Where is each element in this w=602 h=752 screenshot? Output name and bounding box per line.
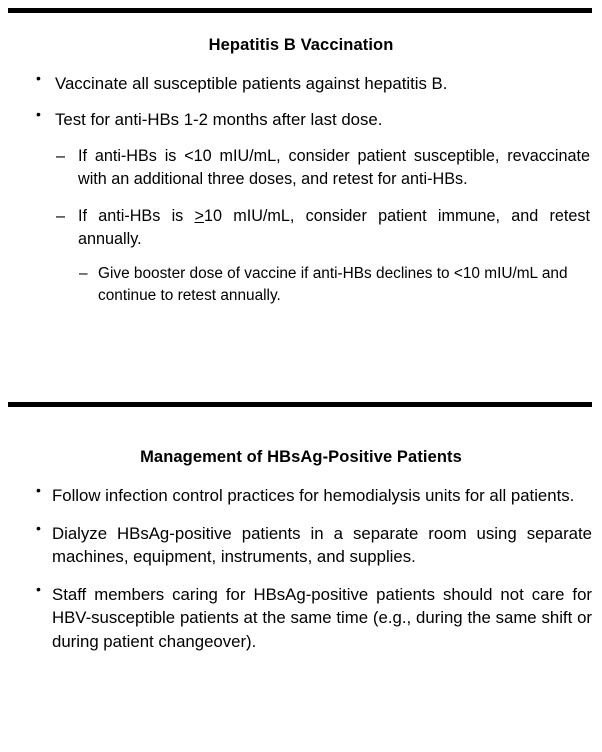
section-management-hbsag-positive: Management of HBsAg-Positive Patients Fo… xyxy=(0,448,602,668)
slide-page: Hepatitis B Vaccination Vaccinate all su… xyxy=(0,0,602,752)
divider-rule-top xyxy=(8,8,592,13)
section-two-heading: Management of HBsAg-Positive Patients xyxy=(0,448,602,468)
section-one-bullet-list: Vaccinate all susceptible patients again… xyxy=(0,72,602,131)
sub-sub-bullet-item: Give booster dose of vaccine if anti-HBs… xyxy=(0,263,602,307)
section-one-sub-bullet-list: If anti-HBs is <10 mIU/mL, consider pati… xyxy=(0,145,602,251)
sub-bullet-item: If anti-HBs is <10 mIU/mL, consider pati… xyxy=(0,145,602,191)
bullet-item: Dialyze HBsAg-positive patients in a sep… xyxy=(0,522,602,568)
section-hepatitis-b-vaccination: Hepatitis B Vaccination Vaccinate all su… xyxy=(0,36,602,307)
section-one-heading: Hepatitis B Vaccination xyxy=(0,36,602,56)
bullet-item: Staff members caring for HBsAg-positive … xyxy=(0,583,602,653)
sub-bullet-item: If anti-HBs is >10 mIU/mL, consider pati… xyxy=(0,205,602,251)
bullet-item: Follow infection control practices for h… xyxy=(0,484,602,507)
divider-rule-middle xyxy=(8,402,592,407)
section-one-sub-sub-bullet-list: Give booster dose of vaccine if anti-HBs… xyxy=(0,263,602,307)
greater-than-or-equal-icon: > xyxy=(195,207,204,225)
sub-bullet-text-pre: If anti-HBs is xyxy=(78,207,195,225)
bullet-item: Test for anti-HBs 1-2 months after last … xyxy=(0,108,602,131)
bullet-item: Vaccinate all susceptible patients again… xyxy=(0,72,602,95)
section-two-bullet-list: Follow infection control practices for h… xyxy=(0,484,602,653)
